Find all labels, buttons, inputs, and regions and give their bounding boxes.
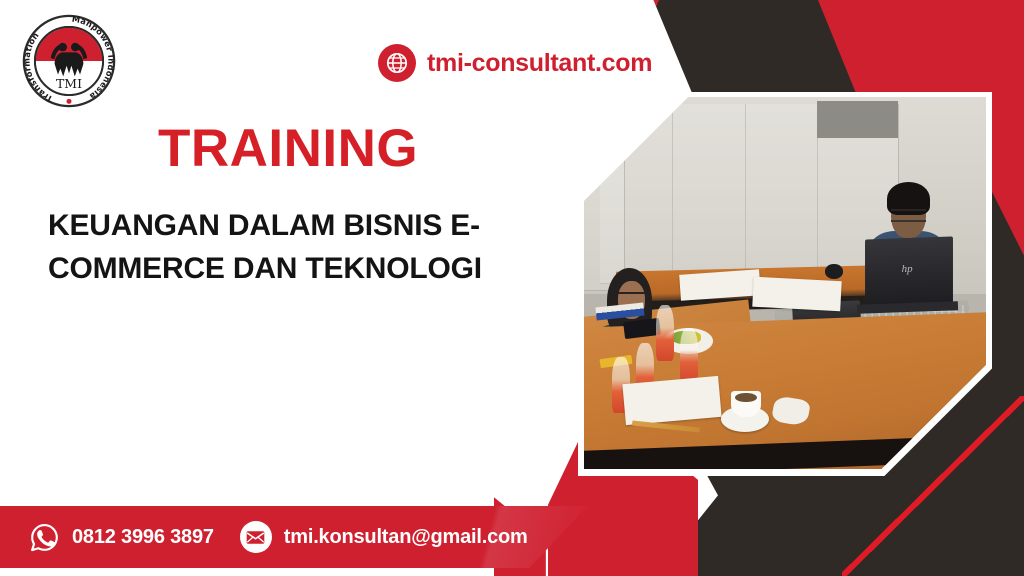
email-address[interactable]: tmi.konsultan@gmail.com [284,526,528,549]
photo-man-glasses [891,209,926,222]
contact-whatsapp[interactable]: 0812 3996 3897 [28,521,214,553]
photo-paper [680,269,762,301]
tmi-logo-icon: TMI Manpower Indonesia Transformation [21,13,117,109]
photo-wall-panel [745,104,818,284]
whatsapp-icon [28,521,60,553]
envelope-icon [240,521,272,553]
photo-wall-dark-panel [817,101,897,138]
contact-email[interactable]: tmi.konsultan@gmail.com [240,521,528,553]
svg-text:TMI: TMI [56,76,82,91]
promo-banner: hp [0,0,1024,576]
whatsapp-number[interactable]: 0812 3996 3897 [72,526,214,549]
photo-bottle [656,305,674,361]
globe-icon [378,44,416,82]
page-title: KEUANGAN DALAM BISNIS E-COMMERCE DAN TEK… [48,205,542,290]
website-url[interactable]: tmi-consultant.com [427,49,652,78]
photo-paper [752,277,842,311]
contact-items: 0812 3996 3897 tmi.konsultan@gmail.com [0,506,588,568]
photo-bottle [680,328,698,384]
photo-woman-glasses [618,292,645,302]
photo-paper [623,376,723,425]
page-title-eyebrow: TRAINING [158,122,418,175]
photo-laptop-logo: hp [902,264,918,279]
photo-scene: hp [584,97,986,469]
training-photo: hp [584,97,986,469]
photo-wall-panel [672,104,745,284]
website-row[interactable]: tmi-consultant.com [378,44,652,82]
